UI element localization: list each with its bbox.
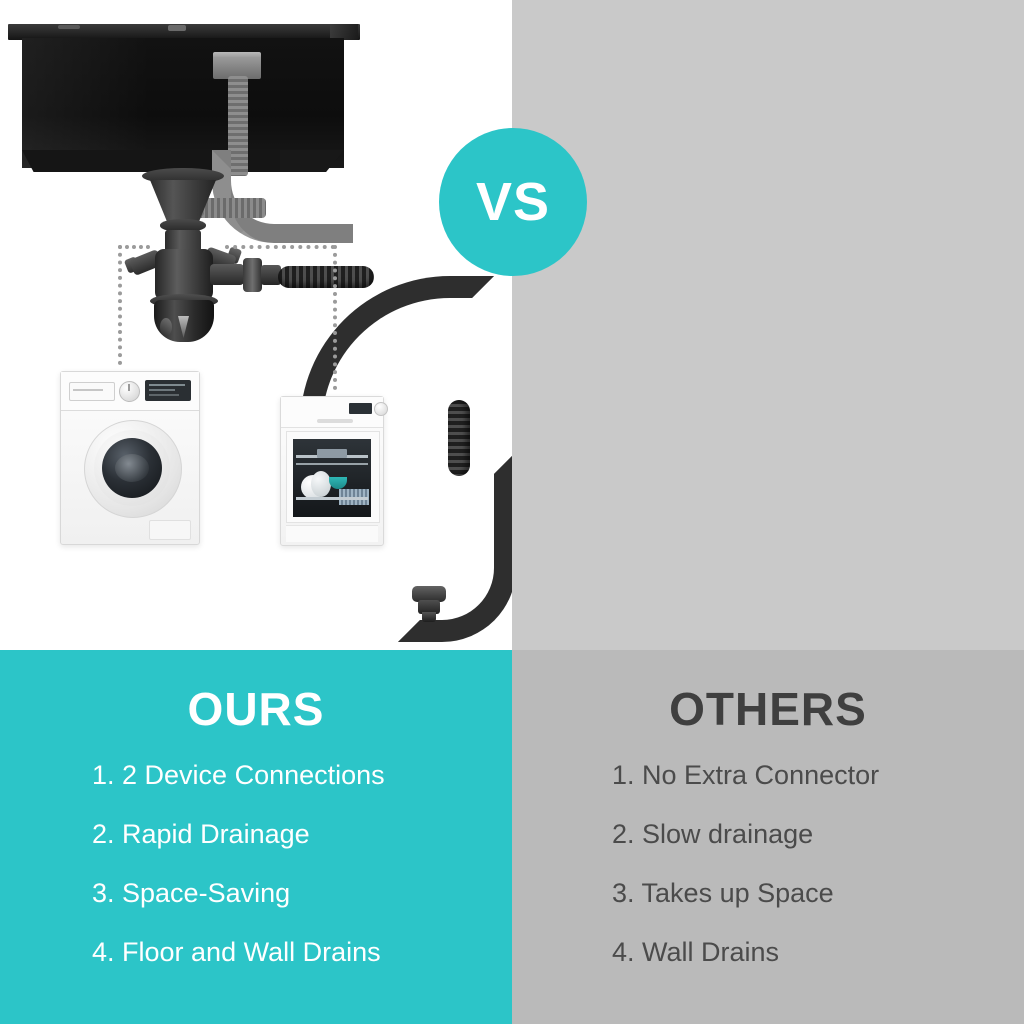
- sink-basin: [22, 38, 344, 168]
- dishwasher-base: [286, 525, 378, 542]
- others-product-scene: [512, 0, 1024, 650]
- washing-machine: [60, 371, 200, 545]
- guide-line-top-right: [225, 245, 335, 249]
- detergent-tray: [69, 382, 115, 401]
- dishwasher: [280, 396, 384, 546]
- lower-rack: [296, 497, 368, 500]
- others-feature-panel: OTHERS 1. No Extra Connector 2. Slow dra…: [512, 650, 1024, 1024]
- corrugated-hose-lower-bend: [398, 452, 512, 642]
- drum: [115, 454, 149, 482]
- others-feature-list: 1. No Extra Connector 2. Slow drainage 3…: [512, 762, 1024, 998]
- filter-access-panel: [149, 520, 191, 540]
- dishwasher-knob: [374, 402, 388, 416]
- vs-label: VS: [439, 128, 587, 276]
- display-line-3: [149, 394, 179, 396]
- list-item: 2. Slow drainage: [612, 821, 1024, 848]
- list-item: 3. Takes up Space: [612, 880, 1024, 907]
- others-title: OTHERS: [512, 686, 1024, 732]
- corrugated-hose-horizontal: [278, 266, 374, 288]
- dishwasher-display: [349, 403, 372, 414]
- ours-feature-panel: OURS 1. 2 Device Connections 2. Rapid Dr…: [0, 650, 512, 1024]
- sink-mounting-clip-left: [58, 25, 80, 29]
- ours-product-scene: [0, 0, 512, 650]
- list-item: 4. Wall Drains: [612, 939, 1024, 966]
- trap-bowl-highlight: [160, 318, 172, 336]
- plate-two: [311, 471, 331, 497]
- vs-badge: VS: [439, 128, 587, 276]
- display-line-2: [149, 389, 175, 391]
- drain-outlet: [210, 264, 244, 285]
- display-line-1: [149, 384, 185, 386]
- ours-title: OURS: [0, 686, 512, 732]
- sink-mounting-clip-right: [168, 25, 186, 31]
- comparison-infographic: VS OURS 1. 2 Device Connections 2. Rapid…: [0, 0, 1024, 1024]
- hose-end-tip: [422, 612, 436, 622]
- list-item: 1. No Extra Connector: [612, 762, 1024, 789]
- upper-rack-bar: [296, 463, 368, 465]
- outlet-nut: [243, 258, 262, 292]
- program-knob: [119, 381, 140, 402]
- guide-line-down-right: [333, 245, 337, 390]
- guide-line-down-left: [118, 245, 122, 365]
- dishwasher-handle: [317, 419, 353, 423]
- detergent-tray-line: [73, 389, 103, 391]
- detergent-dispenser: [317, 449, 347, 458]
- guide-line-top-left: [118, 245, 150, 249]
